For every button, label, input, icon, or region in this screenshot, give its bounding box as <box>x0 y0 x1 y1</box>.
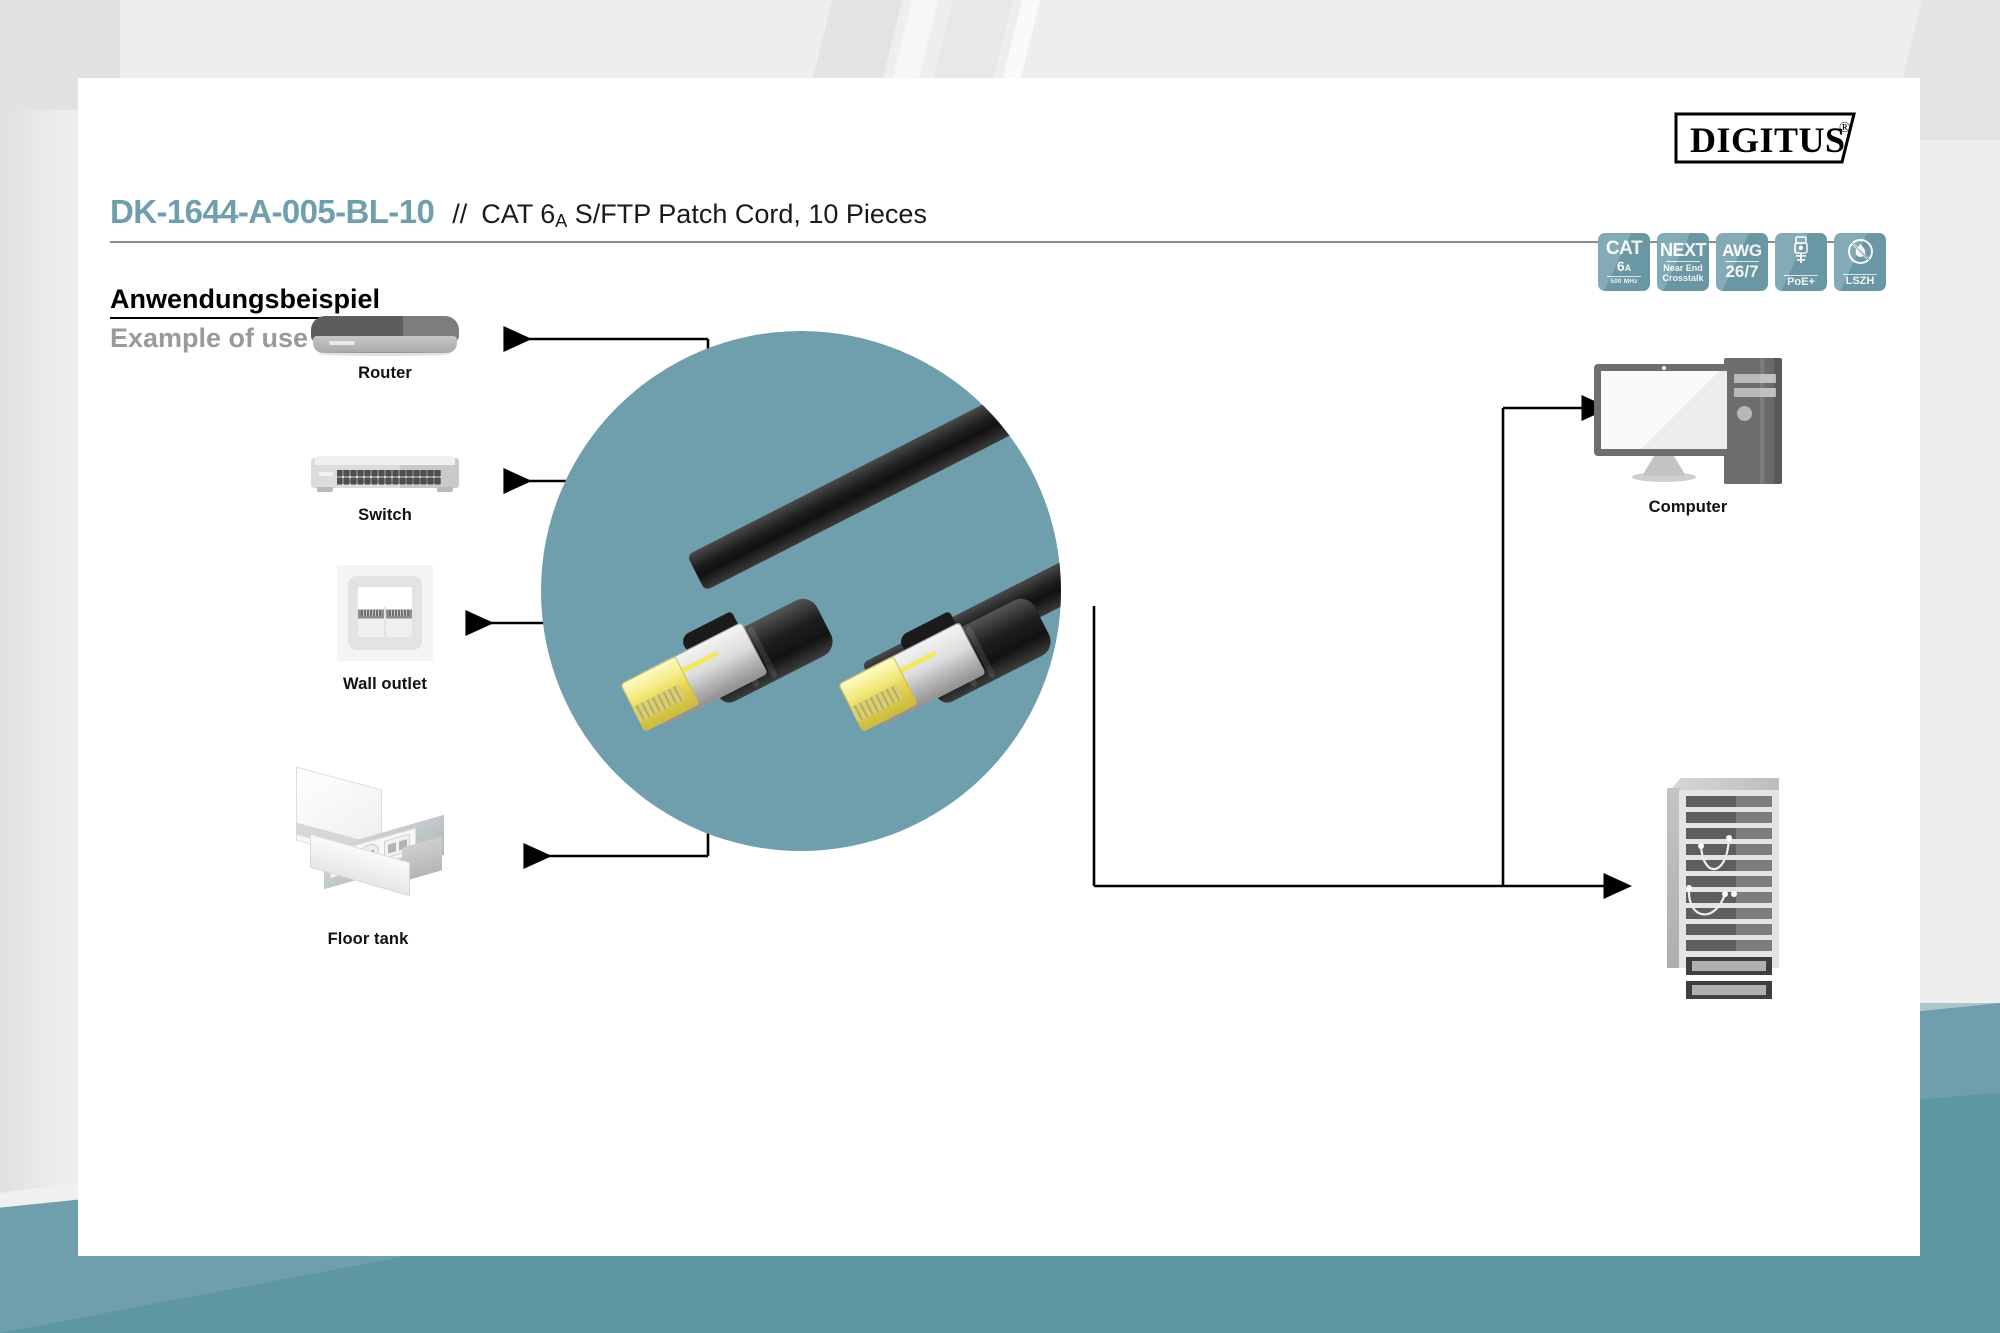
next-badge[interactable]: NEXT Near End Crosstalk <box>1657 233 1709 291</box>
server-cable-dot <box>1686 885 1692 891</box>
lszh-badge-label: LSZH <box>1846 276 1875 287</box>
lszh-badge[interactable]: LSZH <box>1834 233 1886 291</box>
router-icon <box>311 316 459 356</box>
outlet-jack-group <box>358 605 412 637</box>
lszh-no-flame-icon <box>1847 238 1874 270</box>
server-icon <box>1667 778 1779 968</box>
rj45-jack-icon <box>358 605 384 637</box>
cat-badge-footnote: 500 MHz <box>1610 278 1637 285</box>
router-led <box>329 341 355 345</box>
node-floor-tank: Floor tank <box>268 778 468 949</box>
node-switch: Switch <box>290 456 480 525</box>
server-cable-dot <box>1722 891 1728 897</box>
monitor-screen <box>1601 371 1727 449</box>
cat-badge[interactable]: CAT 6A 500 MHz <box>1598 233 1650 291</box>
next-badge-line2: Crosstalk <box>1662 273 1703 283</box>
server-cable-dot <box>1731 891 1737 897</box>
switch-top <box>315 456 455 465</box>
next-badge-main: NEXT <box>1660 241 1706 259</box>
floor-tank-icon <box>290 778 446 896</box>
data-jack-port <box>388 842 396 853</box>
switch-indicator-bar <box>319 472 333 476</box>
next-badge-rule <box>1666 261 1700 262</box>
monitor-webcam-icon <box>1662 366 1666 370</box>
cat-badge-sub-letter: A <box>1625 263 1632 273</box>
drive-face <box>1692 985 1766 995</box>
page-canvas: DIGITUS ® DK-1644-A-005-BL-10 // CAT 6A … <box>0 0 2000 1333</box>
cat-badge-main: CAT <box>1606 239 1642 258</box>
switch-foot-right <box>437 487 453 492</box>
cat-badge-sub: 6A <box>1617 258 1631 274</box>
switch-label: Switch <box>290 506 480 525</box>
server-patch-cables <box>1667 778 1779 968</box>
node-router: Router <box>290 316 480 383</box>
node-computer: Computer <box>1588 358 1788 517</box>
server-cable-dot <box>1726 835 1732 841</box>
computer-label: Computer <box>1588 498 1788 517</box>
switch-ports-rows <box>337 470 441 485</box>
content-sheet: DIGITUS ® DK-1644-A-005-BL-10 // CAT 6A … <box>78 78 1920 1256</box>
monitor-stand <box>1642 454 1686 476</box>
tower-power-button <box>1737 406 1752 421</box>
switch-icon <box>311 456 459 498</box>
floor-tank-label: Floor tank <box>268 930 468 949</box>
rj45-patch-cord-photo <box>541 331 1061 851</box>
server-drive-tray <box>1686 981 1772 999</box>
rj45-connector-left <box>629 617 839 737</box>
rj45-connector-right <box>847 617 1057 737</box>
poe-plug-icon <box>1791 236 1811 271</box>
cat-badge-rule <box>1607 276 1641 277</box>
awg-badge-sub: 26/7 <box>1725 263 1758 282</box>
outlet-white-face <box>358 587 412 607</box>
wall-outlet-icon <box>337 565 433 661</box>
feature-badge-row: CAT 6A 500 MHz NEXT Near End Crosstalk A… <box>1598 233 1886 291</box>
poe-badge[interactable]: PoE+ <box>1775 233 1827 291</box>
left-edge-gradient <box>0 0 60 1333</box>
cat-badge-sub-number: 6 <box>1617 258 1625 274</box>
node-wall-outlet: Wall outlet <box>290 565 480 694</box>
router-label: Router <box>290 364 480 383</box>
next-badge-line1: Near End <box>1663 263 1703 273</box>
wall-outlet-label: Wall outlet <box>290 675 480 694</box>
awg-badge[interactable]: AWG 26/7 <box>1716 233 1768 291</box>
rj45-jack-icon <box>386 605 412 637</box>
poe-badge-label: PoE+ <box>1787 277 1815 288</box>
switch-foot-left <box>317 487 333 492</box>
node-server: Server <box>1623 778 1823 1003</box>
cable-jacket-upper <box>687 331 1061 591</box>
awg-badge-main: AWG <box>1722 242 1762 259</box>
router-shadow <box>319 352 451 356</box>
computer-icon <box>1594 358 1782 484</box>
hero-clip <box>541 331 1061 851</box>
server-cable-dot <box>1698 843 1704 849</box>
tower-sheen <box>1760 358 1774 484</box>
computer-monitor <box>1594 364 1734 456</box>
